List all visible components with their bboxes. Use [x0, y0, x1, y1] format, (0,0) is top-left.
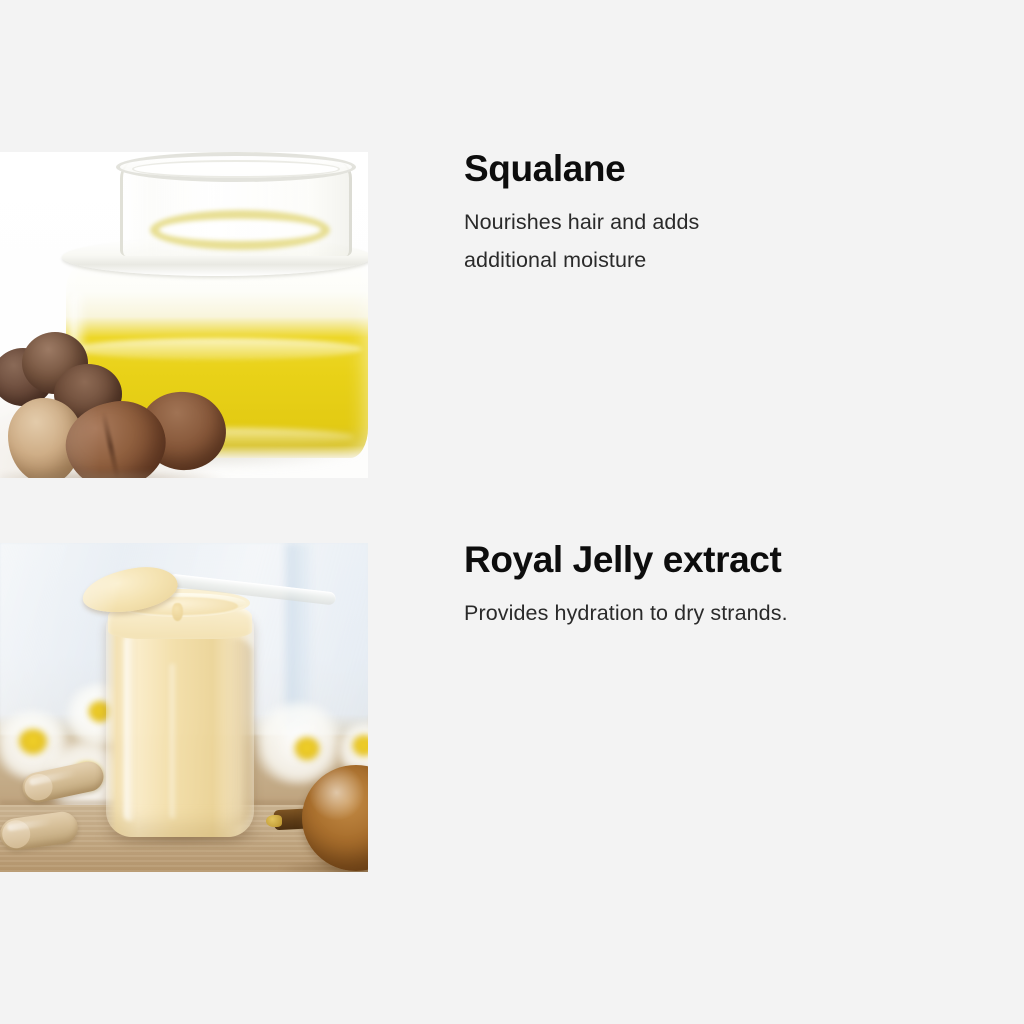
daisy-center: [18, 729, 48, 755]
jar-highlight: [170, 663, 177, 819]
squalane-copy: Squalane Nourishes hair and adds additio…: [464, 146, 934, 279]
royal-jelly-photo: [0, 543, 368, 872]
ingredient-title: Royal Jelly extract: [464, 537, 934, 583]
jar-right-shading: [226, 639, 252, 827]
ingredient-description: Provides hydration to dry strands.: [464, 594, 924, 632]
royal-jelly-copy: Royal Jelly extract Provides hydration t…: [464, 537, 934, 632]
dropper-bottle-tip: [266, 815, 282, 827]
oil-ring-reflection: [150, 210, 330, 250]
oil-surface-highlight: [74, 338, 362, 360]
daisy-center: [294, 737, 320, 761]
jar-highlight: [124, 635, 136, 821]
royal-jelly-image-container: [0, 543, 368, 872]
squalane-oil-photo: [0, 152, 368, 478]
jelly-drip: [172, 603, 183, 621]
ingredient-description: Nourishes hair and adds additional moist…: [464, 203, 764, 279]
oil-jar-rim-inner: [132, 160, 340, 178]
ingredient-title: Squalane: [464, 146, 934, 192]
squalane-image-container: [0, 152, 368, 478]
nuts-ground-shadow: [0, 472, 230, 478]
ingredients-page: Squalane Nourishes hair and adds additio…: [0, 0, 1024, 1024]
